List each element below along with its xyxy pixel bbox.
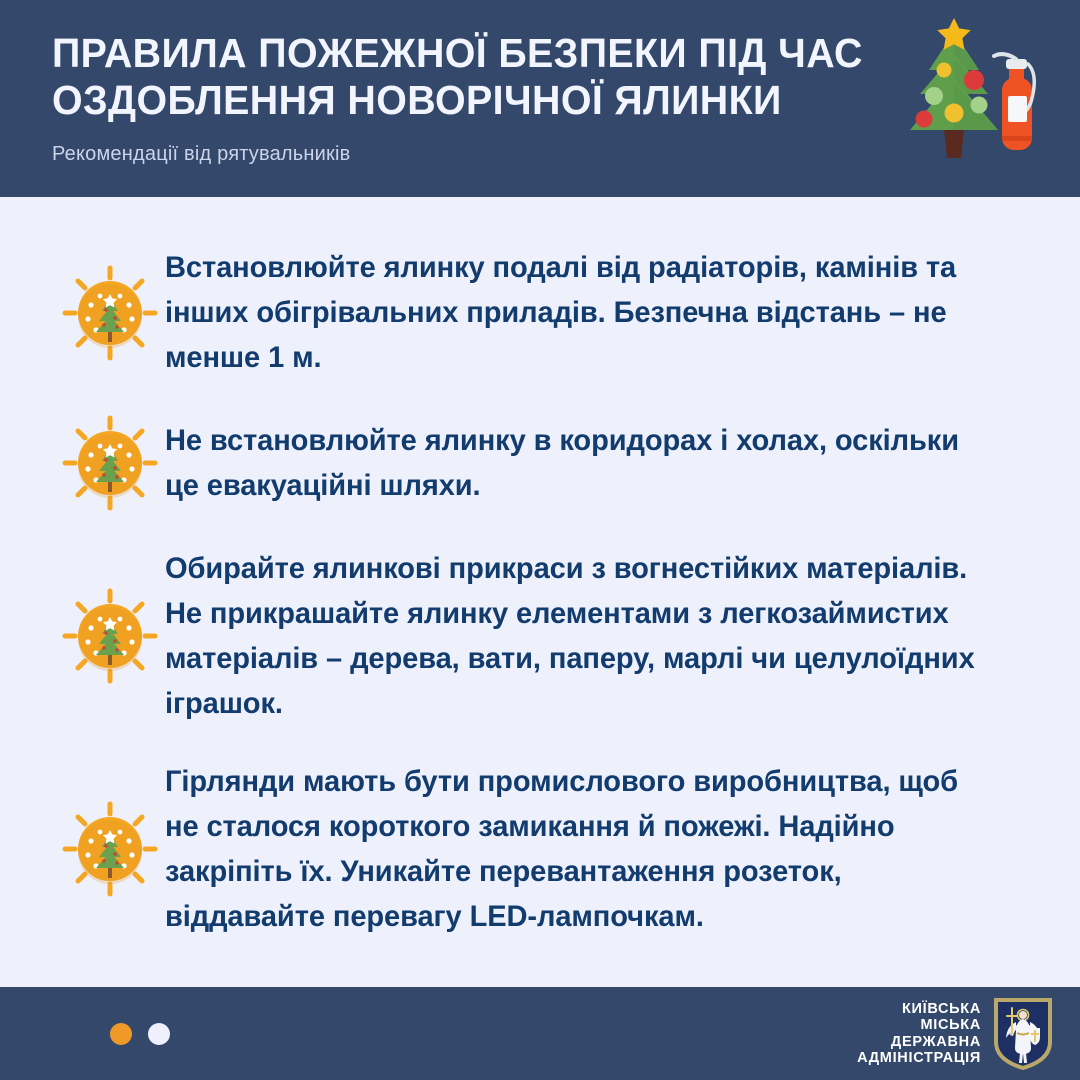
poster: ПРАВИЛА ПОЖЕЖНОЇ БЕЗПЕКИ ПІД ЧАС ОЗДОБЛЕ… — [0, 0, 1080, 1080]
kyiv-coat-of-arms-icon — [994, 998, 1052, 1070]
list-item: Не встановлюйте ялинку в коридорах і хол… — [60, 413, 1005, 513]
pagination-dot-1[interactable] — [110, 1023, 132, 1045]
tree-and-extinguisher-icon — [876, 18, 1046, 173]
rule-text: Не встановлюйте ялинку в коридорах і хол… — [165, 418, 992, 508]
pagination-dot-2[interactable] — [148, 1023, 170, 1045]
list-item: Встановлюйте ялинку подалі від радіаторі… — [60, 245, 1005, 380]
fire-extinguisher-icon — [994, 54, 1034, 150]
sun-christmas-tree-icon — [60, 263, 160, 363]
brand-line-2: МІСЬКА — [857, 1017, 981, 1034]
header-banner: ПРАВИЛА ПОЖЕЖНОЇ БЕЗПЕКИ ПІД ЧАС ОЗДОБЛЕ… — [0, 0, 1080, 197]
footer-bar: КИЇВСЬКА МІСЬКА ДЕРЖАВНА АДМІНІСТРАЦІЯ — [0, 987, 1080, 1080]
sun-christmas-tree-icon — [60, 586, 160, 686]
pagination-dots[interactable] — [110, 1023, 170, 1045]
list-item: Гірлянди мають бути промислового виробни… — [60, 759, 1005, 939]
content-area: Встановлюйте ялинку подалі від радіаторі… — [0, 197, 1080, 987]
brand-line-4: АДМІНІСТРАЦІЯ — [857, 1050, 981, 1067]
brand-line-1: КИЇВСЬКА — [857, 1001, 981, 1018]
page-title: ПРАВИЛА ПОЖЕЖНОЇ БЕЗПЕКИ ПІД ЧАС ОЗДОБЛЕ… — [52, 30, 897, 124]
header-illustration — [876, 18, 1046, 173]
brand-line-3: ДЕРЖАВНА — [857, 1034, 981, 1051]
brand-block: КИЇВСЬКА МІСЬКА ДЕРЖАВНА АДМІНІСТРАЦІЯ — [857, 998, 1052, 1070]
rule-text: Гірлянди мають бути промислового виробни… — [165, 759, 992, 939]
rules-list: Встановлюйте ялинку подалі від радіаторі… — [0, 197, 1080, 939]
christmas-tree-icon — [910, 18, 998, 158]
sun-christmas-tree-icon — [60, 799, 160, 899]
brand-name: КИЇВСЬКА МІСЬКА ДЕРЖАВНА АДМІНІСТРАЦІЯ — [857, 1001, 981, 1067]
rule-text: Встановлюйте ялинку подалі від радіаторі… — [165, 245, 992, 380]
rule-text: Обирайте ялинкові прикраси з вогнестійки… — [165, 546, 992, 726]
list-item: Обирайте ялинкові прикраси з вогнестійки… — [60, 546, 1005, 726]
sun-christmas-tree-icon — [60, 413, 160, 513]
